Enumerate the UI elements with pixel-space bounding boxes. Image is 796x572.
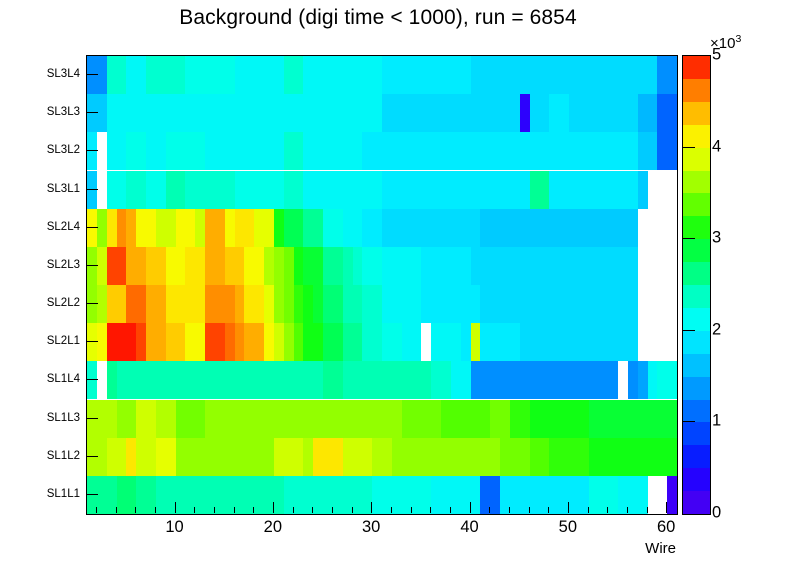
y-axis-tick <box>86 227 98 228</box>
x-axis-minor-tick <box>234 507 235 513</box>
colorbar-band <box>683 216 710 240</box>
heatmap-cell <box>225 171 235 209</box>
colorbar-band <box>683 148 710 172</box>
heatmap-row-sl3l4 <box>87 56 677 94</box>
heatmap-cell <box>136 476 146 514</box>
heatmap-cell <box>579 438 589 476</box>
heatmap-cell <box>343 361 353 399</box>
heatmap-cell <box>520 361 530 399</box>
x-axis-minor-tick <box>135 507 136 513</box>
colorbar-band <box>683 445 710 469</box>
heatmap-cell <box>254 171 264 209</box>
heatmap-cell <box>638 171 648 209</box>
x-axis-major-tick <box>175 502 176 513</box>
colorbar-tick-label: 5 <box>712 46 721 65</box>
heatmap-cell <box>372 323 382 361</box>
heatmap-cell <box>136 400 146 438</box>
x-axis-minor-tick <box>116 507 117 513</box>
heatmap-cell <box>638 285 648 323</box>
y-axis-label-sl1l3: SL1L3 <box>8 412 80 424</box>
heatmap-cell <box>490 94 500 132</box>
heatmap-cell <box>284 171 294 209</box>
heatmap-cell <box>343 400 353 438</box>
x-axis-major-tick <box>470 502 471 513</box>
colorbar-band <box>683 331 710 355</box>
heatmap-cell <box>284 285 294 323</box>
y-axis-label-sl1l1: SL1L1 <box>8 488 80 500</box>
heatmap-cell <box>461 438 471 476</box>
heatmap-cell <box>431 361 441 399</box>
colorbar-gradient <box>683 56 710 514</box>
heatmap-cell <box>107 132 117 170</box>
heatmap-cell <box>520 285 530 323</box>
heatmap-cell <box>107 438 117 476</box>
y-axis-tick <box>86 456 98 457</box>
heatmap-cell <box>343 132 353 170</box>
heatmap-cell <box>402 400 412 438</box>
heatmap-cell <box>313 209 323 247</box>
x-axis-minor-tick <box>253 507 254 513</box>
heatmap-cell <box>490 56 500 94</box>
colorbar-band <box>683 239 710 263</box>
heatmap-cell <box>195 56 205 94</box>
y-axis-label-sl3l4: SL3L4 <box>8 68 80 80</box>
heatmap-cell <box>225 361 235 399</box>
heatmap-cell <box>372 438 382 476</box>
heatmap-cell <box>166 209 176 247</box>
y-axis-label-sl2l4: SL2L4 <box>8 221 80 233</box>
colorbar-tick <box>682 238 695 239</box>
heatmap-cell <box>225 209 235 247</box>
heatmap-cell <box>166 400 176 438</box>
heatmap-cell <box>195 94 205 132</box>
heatmap-cell <box>284 56 294 94</box>
heatmap-cell <box>284 132 294 170</box>
x-axis-minor-tick <box>352 507 353 513</box>
heatmap-cell <box>431 132 441 170</box>
heatmap-cell <box>136 438 146 476</box>
heatmap-cell <box>166 323 176 361</box>
y-axis-label-sl1l4: SL1L4 <box>8 373 80 385</box>
heatmap-cell <box>313 476 323 514</box>
heatmap-cell <box>107 56 117 94</box>
colorbar-tick-label: 3 <box>712 229 721 248</box>
x-axis-minor-tick <box>607 507 608 513</box>
heatmap-cell <box>490 400 500 438</box>
heatmap-row-sl1l2 <box>87 438 677 476</box>
heatmap-cell <box>579 361 589 399</box>
colorbar-tick-label: 4 <box>712 137 721 156</box>
heatmap-row-sl3l1 <box>87 171 677 209</box>
heatmap-cell <box>313 361 323 399</box>
x-axis-minor-tick <box>430 507 431 513</box>
colorbar-band <box>683 400 710 424</box>
heatmap-cell <box>490 476 500 514</box>
x-axis-minor-tick <box>509 507 510 513</box>
heatmap-cell <box>667 400 677 438</box>
heatmap-cell <box>608 438 618 476</box>
colorbar-band <box>683 193 710 217</box>
heatmap-cell <box>579 171 589 209</box>
heatmap-cell <box>667 323 677 361</box>
heatmap-cell <box>461 209 471 247</box>
heatmap-cell <box>667 171 677 209</box>
x-axis-minor-tick <box>588 507 589 513</box>
heatmap-cell <box>638 56 648 94</box>
y-axis-label-sl3l3: SL3L3 <box>8 106 80 118</box>
x-axis-minor-tick <box>529 507 530 513</box>
x-axis-minor-tick <box>450 507 451 513</box>
heatmap-cell <box>195 361 205 399</box>
x-axis-minor-tick <box>214 507 215 513</box>
heatmap-cell <box>166 438 176 476</box>
heatmap-cell <box>313 56 323 94</box>
colorbar-band <box>683 354 710 378</box>
heatmap-cell <box>107 247 117 285</box>
colorbar-band <box>683 491 710 514</box>
x-axis-tick-label: 50 <box>559 518 577 537</box>
heatmap-cell <box>372 132 382 170</box>
heatmap-row-sl2l4 <box>87 209 677 247</box>
heatmap-cell <box>549 323 559 361</box>
heatmap-cell <box>402 285 412 323</box>
heatmap-cell <box>372 94 382 132</box>
heatmap-cell <box>136 56 146 94</box>
heatmap-cell <box>667 247 677 285</box>
heatmap-cell <box>431 94 441 132</box>
heatmap-cell <box>402 438 412 476</box>
colorbar-band <box>683 468 710 492</box>
x-axis-tick-label: 20 <box>264 518 282 537</box>
x-axis-minor-tick <box>489 507 490 513</box>
heatmap-cell <box>136 171 146 209</box>
heatmap-cell <box>225 247 235 285</box>
y-axis-label-sl2l2: SL2L2 <box>8 297 80 309</box>
heatmap-cell <box>166 132 176 170</box>
heatmap-row-sl3l2 <box>87 132 677 170</box>
heatmap-cell <box>225 132 235 170</box>
heatmap-cell <box>549 209 559 247</box>
heatmap-cell <box>490 132 500 170</box>
y-axis-tick <box>86 189 98 190</box>
heatmap-cell <box>225 438 235 476</box>
heatmap-cell <box>107 209 117 247</box>
y-axis-tick <box>86 494 98 495</box>
heatmap-cell <box>372 476 382 514</box>
heatmap-cell <box>520 400 530 438</box>
heatmap-cell <box>461 323 471 361</box>
heatmap-cell <box>549 438 559 476</box>
heatmap-cell <box>254 56 264 94</box>
heatmap-cell <box>284 400 294 438</box>
colorbar-tick <box>682 421 695 422</box>
heatmap-cell <box>520 209 530 247</box>
x-axis-major-tick <box>568 502 569 513</box>
heatmap-row-sl2l3 <box>87 247 677 285</box>
heatmap-cell <box>638 438 648 476</box>
heatmap-cell <box>107 171 117 209</box>
colorbar-tick-label: 0 <box>712 504 721 523</box>
heatmap-cell <box>343 171 353 209</box>
heatmap-cell <box>431 247 441 285</box>
heatmap-cell <box>136 247 146 285</box>
heatmap-cell <box>638 361 648 399</box>
x-axis-minor-tick <box>391 507 392 513</box>
heatmap-cell <box>579 94 589 132</box>
heatmap-cell <box>166 171 176 209</box>
heatmap-cell <box>254 94 264 132</box>
heatmap-cell <box>195 209 205 247</box>
heatmap-cell <box>284 247 294 285</box>
heatmap-cell <box>402 56 412 94</box>
heatmap-cell <box>343 438 353 476</box>
y-axis-tick <box>86 265 98 266</box>
heatmap-row-sl3l3 <box>87 94 677 132</box>
heatmap-cell <box>254 361 264 399</box>
heatmap-cell <box>490 285 500 323</box>
heatmap-cell <box>372 361 382 399</box>
y-axis-tick <box>86 112 98 113</box>
heatmap-cell <box>461 171 471 209</box>
heatmap-cell <box>195 476 205 514</box>
heatmap-cell <box>549 132 559 170</box>
heatmap-cell <box>372 247 382 285</box>
heatmap-cell <box>431 438 441 476</box>
colorbar-tick <box>682 147 695 148</box>
heatmap-cell <box>520 438 530 476</box>
heatmap-cell <box>107 361 117 399</box>
x-axis-major-tick <box>666 502 667 513</box>
heatmap-cell <box>638 323 648 361</box>
heatmap-cell <box>254 476 264 514</box>
heatmap-cell <box>490 361 500 399</box>
heatmap-cell <box>549 171 559 209</box>
y-axis-label-sl1l2: SL1L2 <box>8 450 80 462</box>
heatmap-cell <box>520 94 530 132</box>
heatmap-cell <box>520 56 530 94</box>
heatmap-cell <box>107 400 117 438</box>
heatmap-cell <box>372 285 382 323</box>
heatmap-cell <box>549 476 559 514</box>
heatmap-cell <box>343 247 353 285</box>
heatmap-cell <box>549 400 559 438</box>
heatmap-cell <box>254 323 264 361</box>
heatmap-cell <box>549 94 559 132</box>
heatmap-cell <box>667 56 677 94</box>
heatmap-cell <box>431 323 441 361</box>
heatmap-cell <box>549 247 559 285</box>
x-axis-tick-label: 10 <box>165 518 183 537</box>
heatmap-cell <box>254 247 264 285</box>
heatmap-cell <box>667 361 677 399</box>
heatmap-cell <box>195 323 205 361</box>
x-axis-minor-tick <box>194 507 195 513</box>
heatmap-cell <box>195 171 205 209</box>
heatmap-cell <box>136 209 146 247</box>
heatmap-cell <box>254 209 264 247</box>
heatmap-cell <box>461 94 471 132</box>
heatmap-cell <box>490 323 500 361</box>
heatmap-cell <box>372 56 382 94</box>
heatmap-cell <box>166 285 176 323</box>
heatmap-cell <box>372 209 382 247</box>
x-axis-minor-tick <box>293 507 294 513</box>
x-axis-tick-label: 30 <box>362 518 380 537</box>
heatmap-row-sl1l4 <box>87 361 677 399</box>
heatmap-cell <box>107 94 117 132</box>
x-axis-tick-label: 60 <box>657 518 675 537</box>
heatmap-cell <box>136 132 146 170</box>
heatmap-cell <box>343 94 353 132</box>
heatmap-cell <box>372 400 382 438</box>
y-axis-tick <box>86 303 98 304</box>
heatmap-cell <box>225 94 235 132</box>
heatmap-cell <box>608 171 618 209</box>
heatmap-cell <box>520 323 530 361</box>
heatmap-cell <box>520 247 530 285</box>
colorbar-tick-label: 1 <box>712 412 721 431</box>
colorbar-band <box>683 285 710 309</box>
heatmap-cell <box>579 323 589 361</box>
x-axis-minor-tick <box>627 507 628 513</box>
x-axis-minor-tick <box>548 507 549 513</box>
heatmap-cell <box>225 56 235 94</box>
heatmap-cell <box>579 285 589 323</box>
heatmap-cell <box>579 209 589 247</box>
heatmap-cell <box>225 323 235 361</box>
heatmap-cell <box>284 94 294 132</box>
heatmap-cell <box>549 361 559 399</box>
heatmap-cell <box>461 361 471 399</box>
x-axis-minor-tick <box>332 507 333 513</box>
colorbar-band <box>683 102 710 126</box>
heatmap-cell <box>313 400 323 438</box>
heatmap-cell <box>402 132 412 170</box>
heatmap-cell <box>313 323 323 361</box>
heatmap-cell <box>461 285 471 323</box>
colorbar-tick <box>682 55 695 56</box>
x-axis-title: Wire <box>645 540 676 557</box>
heatmap-cell <box>343 209 353 247</box>
colorbar-band <box>683 79 710 103</box>
heatmap-cell <box>136 94 146 132</box>
heatmap-cell <box>461 56 471 94</box>
heatmap-cell <box>431 476 441 514</box>
heatmap-cell <box>372 171 382 209</box>
heatmap-cell <box>225 285 235 323</box>
heatmap-cell <box>490 171 500 209</box>
heatmap-cell <box>667 285 677 323</box>
heatmap-cell <box>520 171 530 209</box>
heatmap-cell <box>608 56 618 94</box>
heatmap-cell <box>638 400 648 438</box>
heatmap-cell <box>638 94 648 132</box>
heatmap-cell <box>667 476 677 514</box>
heatmap-cell <box>431 285 441 323</box>
heatmap-cell <box>431 171 441 209</box>
colorbar-band <box>683 125 710 149</box>
heatmap-cell <box>225 400 235 438</box>
heatmap-cell <box>284 209 294 247</box>
heatmap-cell <box>343 285 353 323</box>
heatmap-plot-area[interactable] <box>87 56 677 514</box>
heatmap-cell <box>608 132 618 170</box>
plot-frame <box>86 55 678 515</box>
colorbar-band <box>683 377 710 401</box>
y-axis-label-sl3l1: SL3L1 <box>8 183 80 195</box>
heatmap-cell <box>313 94 323 132</box>
heatmap-cell <box>195 400 205 438</box>
heatmap-cell <box>313 132 323 170</box>
x-axis-minor-tick <box>96 507 97 513</box>
heatmap-cell <box>284 438 294 476</box>
heatmap-cell <box>579 56 589 94</box>
heatmap-cell <box>166 56 176 94</box>
heatmap-cell <box>402 361 412 399</box>
heatmap-cell <box>313 171 323 209</box>
heatmap-cell <box>254 132 264 170</box>
heatmap-cell <box>461 400 471 438</box>
heatmap-cell <box>608 476 618 514</box>
heatmap-cell <box>166 247 176 285</box>
heatmap-cell <box>667 209 677 247</box>
heatmap-cell <box>608 94 618 132</box>
heatmap-cell <box>549 285 559 323</box>
heatmap-cell <box>313 438 323 476</box>
y-axis-tick <box>86 418 98 419</box>
heatmap-cell <box>579 400 589 438</box>
heatmap-cell <box>461 247 471 285</box>
heatmap-cell <box>402 94 412 132</box>
heatmap-cell <box>608 323 618 361</box>
heatmap-cell <box>195 285 205 323</box>
heatmap-cell <box>608 209 618 247</box>
heatmap-cell <box>402 209 412 247</box>
heatmap-cell <box>166 361 176 399</box>
y-axis-labels: SL3L4SL3L3SL3L2SL3L1SL2L4SL2L3SL2L2SL2L1… <box>8 55 80 513</box>
heatmap-cell <box>490 209 500 247</box>
heatmap-cell <box>431 400 441 438</box>
heatmap-cell <box>638 247 648 285</box>
heatmap-cell <box>254 438 264 476</box>
heatmap-cell <box>402 247 412 285</box>
heatmap-cell <box>490 247 500 285</box>
heatmap-cell <box>195 132 205 170</box>
heatmap-cell <box>402 171 412 209</box>
heatmap-cell <box>343 323 353 361</box>
heatmap-cell <box>638 132 648 170</box>
heatmap-cell <box>461 132 471 170</box>
heatmap-cell <box>608 247 618 285</box>
heatmap-cell <box>343 56 353 94</box>
heatmap-cell <box>431 209 441 247</box>
x-axis-major-tick <box>371 502 372 513</box>
colorbar-tick-label: 2 <box>712 320 721 339</box>
colorbar <box>682 55 711 515</box>
heatmap-cell <box>667 132 677 170</box>
y-axis-tick <box>86 74 98 75</box>
page-title: Background (digi time < 1000), run = 685… <box>0 6 756 30</box>
heatmap-cell <box>579 132 589 170</box>
heatmap-cell <box>107 323 117 361</box>
heatmap-cell <box>107 285 117 323</box>
heatmap-cell <box>136 323 146 361</box>
x-axis-minor-tick <box>312 507 313 513</box>
colorbar-band <box>683 308 710 332</box>
heatmap-cell <box>195 438 205 476</box>
colorbar-band <box>683 422 710 446</box>
heatmap-row-sl2l2 <box>87 285 677 323</box>
